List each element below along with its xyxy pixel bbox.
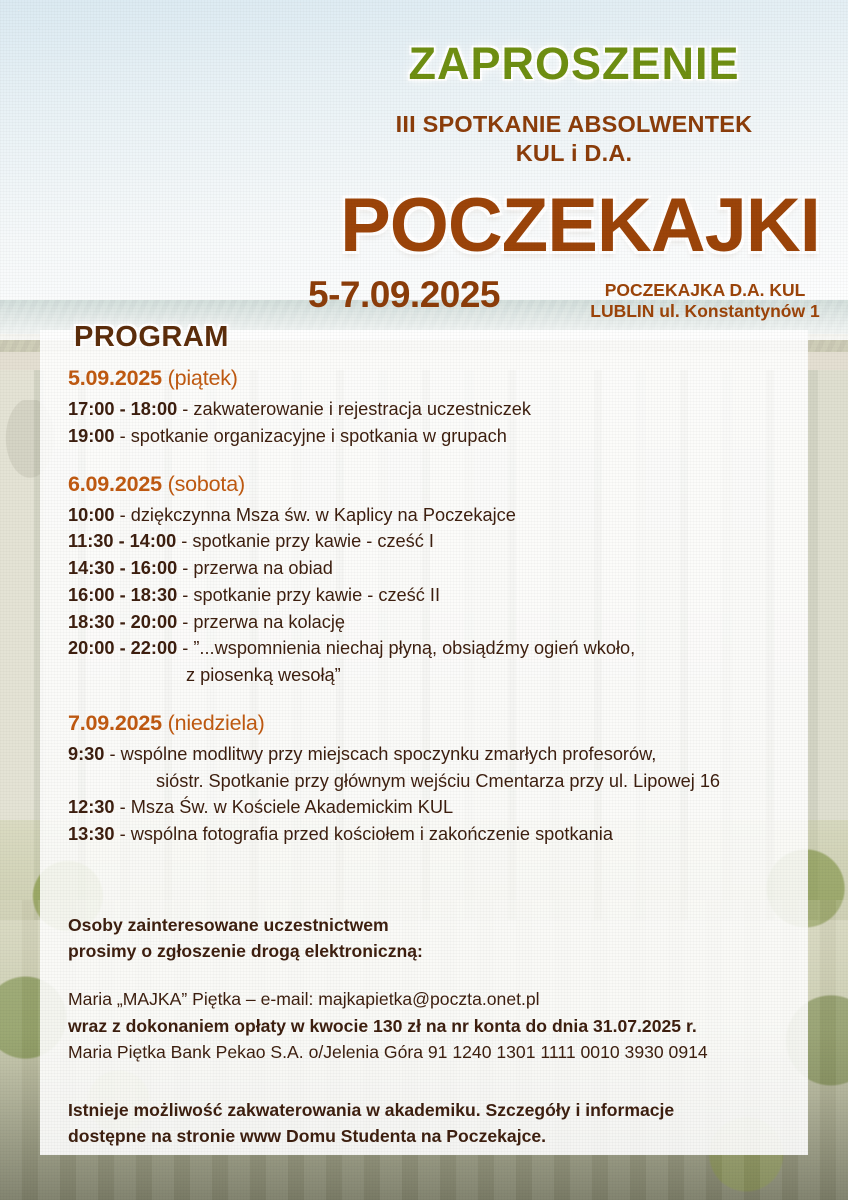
venue-line1: POCZEKAJKA D.A. KUL [555,280,848,301]
day-date: 5.09.2025 [68,366,162,390]
contact-email-line: Maria „MAJKA” Piętka – e-mail: majkapiet… [68,986,808,1013]
accommodation-line2: dostępne na stronie www Domu Studenta na… [68,1123,808,1149]
schedule-time: 13:30 [68,824,115,844]
schedule-time: 10:00 [68,505,115,525]
day-heading-saturday: 6.09.2025 (sobota) [68,472,808,497]
schedule-sep: - [177,638,193,658]
schedule-time: 14:30 - 16:00 [68,558,177,578]
day-weekday: (piątek) [168,366,238,390]
schedule-sep: - [176,531,192,551]
schedule-text: spotkanie organizacyjne i spotkania w gr… [131,426,507,446]
day-heading-sunday: 7.09.2025 (niedziela) [68,711,808,736]
schedule-text: przerwa na obiad [193,558,333,578]
schedule-row: 14:30 - 16:00 - przerwa na obiad [68,555,808,582]
schedule-row: 20:00 - 22:00 - ”...wspomnienia niechaj … [68,635,808,662]
archival-building-heart-icon [32,178,167,306]
schedule-text: spotkanie przy kawie - cześć I [192,531,434,551]
bank-account-line: Maria Piętka Bank Pekao S.A. o/Jelenia G… [68,1039,808,1066]
registration-intro-line2: prosimy o zgłoszenie drogą elektroniczną… [68,938,808,964]
registration-info: Osoby zainteresowane uczestnictwem prosi… [68,912,808,1149]
schedule-row: 9:30 - wspólne modlitwy przy miejscach s… [68,741,808,768]
schedule-row: 19:00 - spotkanie organizacyjne i spotka… [68,423,808,450]
header-block: ZAPROSZENIE III SPOTKANIE ABSOLWENTEK KU… [300,22,848,322]
schedule-sep: - [104,744,120,764]
schedule-text: Msza Św. w Kościele Akademickim KUL [131,797,453,817]
schedule-row: 12:30 - Msza Św. w Kościele Akademickim … [68,794,808,821]
day-date: 6.09.2025 [68,472,162,496]
schedule-row: 11:30 - 14:00 - spotkanie przy kawie - c… [68,528,808,555]
invitation-label: ZAPROSZENIE [300,38,848,90]
poster-canvas: ZAPROSZENIE III SPOTKANIE ABSOLWENTEK KU… [0,0,848,1200]
schedule-time: 12:30 [68,797,115,817]
program-day-sunday: 7.09.2025 (niedziela) 9:30 - wspólne mod… [68,711,808,848]
schedule-sep: - [115,824,131,844]
schedule-time: 11:30 - 14:00 [68,531,176,551]
spacer [68,964,808,986]
schedule-sep: - [177,612,193,632]
schedule-sep: - [115,797,131,817]
schedule-sep: - [177,558,193,578]
schedule-row-continuation: sióstr. Spotkanie przy głównym wejściu C… [68,768,808,795]
schedule-row: 18:30 - 20:00 - przerwa na kolację [68,609,808,636]
accommodation-line1: Istnieje możliwość zakwaterowania w akad… [68,1097,808,1123]
schedule-time: 18:30 - 20:00 [68,612,177,632]
schedule-time: 16:00 - 18:30 [68,585,177,605]
photo-trees-layer [38,57,298,160]
photo-people-layer [38,136,298,219]
schedule-text: wspólna fotografia przed kościołem i zak… [131,824,613,844]
schedule-time: 17:00 - 18:00 [68,399,177,419]
schedule-text: przerwa na kolację [193,612,345,632]
event-date-range: 5-7.09.2025 [308,274,500,316]
program-heading: PROGRAM [74,321,229,354]
event-subtitle-line2: KUL i D.A. [300,139,848,168]
schedule-text: wspólne modlitwy przy miejscach spoczynk… [121,744,657,764]
schedule-sep: - [177,585,193,605]
schedule-text: spotkanie przy kawie - cześć II [193,585,440,605]
schedule-sep: - [177,399,193,419]
day-weekday: (niedziela) [168,711,265,735]
schedule-text: ”...wspomnienia niechaj płyną, obsiądźmy… [193,638,635,658]
schedule-time: 19:00 [68,426,115,446]
schedule-row: 13:30 - wspólna fotografia przed kościoł… [68,821,808,848]
group-photo-heart-icon [38,28,298,273]
event-subtitle-line1: III SPOTKANIE ABSOLWENTEK [300,110,848,139]
schedule-row: 16:00 - 18:30 - spotkanie przy kawie - c… [68,582,808,609]
venue-line2: LUBLIN ul. Konstantynów 1 [555,301,848,322]
schedule-time: 20:00 - 22:00 [68,638,177,658]
schedule-sep: - [115,505,131,525]
schedule-row-continuation: z piosenką wesołą” [68,662,808,689]
program-day-friday: 5.09.2025 (piątek) 17:00 - 18:00 - zakwa… [68,366,808,450]
program-day-saturday: 6.09.2025 (sobota) 10:00 - dziękczynna M… [68,472,808,689]
venue-address: POCZEKAJKA D.A. KUL LUBLIN ul. Konstanty… [555,280,848,323]
photo-windows-layer [43,232,156,265]
schedule-sep: - [115,426,131,446]
payment-line: wraz z dokonaniem opłaty w kwocie 130 zł… [68,1013,808,1039]
day-date: 7.09.2025 [68,711,162,735]
archival-photo-heart-small-icon [18,10,98,80]
schedule-text: dziękczynna Msza św. w Kaplicy na Poczek… [131,505,516,525]
schedule-row: 10:00 - dziękczynna Msza św. w Kaplicy n… [68,502,808,529]
registration-intro-line1: Osoby zainteresowane uczestnictwem [68,912,808,938]
schedule-time: 9:30 [68,744,104,764]
photo-ground-layer [38,219,298,273]
spacer [68,1067,808,1097]
event-subtitle: III SPOTKANIE ABSOLWENTEK KUL i D.A. [300,110,848,167]
page-title: POCZEKAJKI [300,182,848,269]
schedule-text: zakwaterowanie i rejestracja uczestnicze… [193,399,531,419]
day-weekday: (sobota) [168,472,245,496]
program-schedule: 5.09.2025 (piątek) 17:00 - 18:00 - zakwa… [68,366,808,866]
schedule-row: 17:00 - 18:00 - zakwaterowanie i rejestr… [68,396,808,423]
day-heading-friday: 5.09.2025 (piątek) [68,366,808,391]
